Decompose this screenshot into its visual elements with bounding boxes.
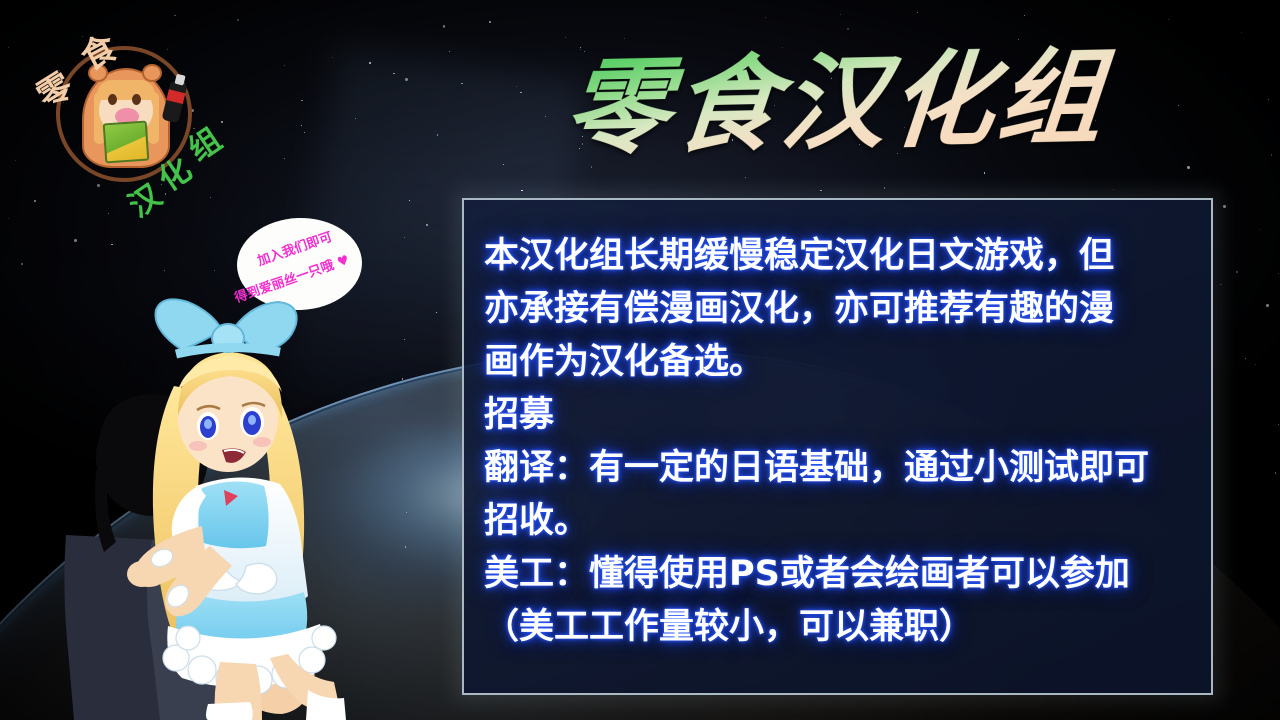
group-logo: 零 食 汉 化 组 bbox=[18, 18, 228, 230]
info-panel: 本汉化组长期缓慢稳定汉化日文游戏，但 亦承接有偿漫画汉化，亦可推荐有趣的漫 画作… bbox=[462, 198, 1213, 695]
panel-text-block: 本汉化组长期缓慢稳定汉化日文游戏，但 亦承接有偿漫画汉化，亦可推荐有趣的漫 画作… bbox=[484, 230, 1189, 654]
logo-word-hanhuazu: 汉 化 组 bbox=[130, 116, 240, 226]
panel-line: 亦承接有偿漫画汉化，亦可推荐有趣的漫 bbox=[484, 283, 1189, 336]
logo-word-snack: 零 食 bbox=[28, 28, 138, 118]
title-text: 零食汉化组 bbox=[560, 30, 1172, 175]
panel-line-artist-note: （美工工作量较小，可以兼职） bbox=[484, 601, 1189, 654]
logo-char-zu: 组 bbox=[184, 124, 227, 167]
poster-title: 零食汉化组 bbox=[566, 36, 1166, 176]
panel-line-translator: 翻译：有一定的日语基础，通过小测试即可 bbox=[484, 442, 1189, 495]
panel-line: 画作为汉化备选。 bbox=[484, 336, 1189, 389]
hamster-ear-right-icon bbox=[142, 64, 162, 82]
logo-char-hua: 化 bbox=[154, 154, 197, 197]
panel-line-recruit-heading: 招募 bbox=[484, 389, 1189, 442]
poster-canvas: 零食汉化组 零 食 汉 化 组 bbox=[0, 0, 1280, 720]
panel-line-artist: 美工：懂得使用PS或者会绘画者可以参加 bbox=[484, 548, 1189, 601]
logo-char-shi: 食 bbox=[76, 30, 122, 76]
anime-artwork bbox=[56, 290, 396, 720]
panel-line: 本汉化组长期缓慢稳定汉化日文游戏，但 bbox=[484, 230, 1189, 283]
logo-char-han: 汉 bbox=[124, 180, 167, 223]
logo-char-ling: 零 bbox=[32, 68, 79, 115]
panel-line: 招收。 bbox=[484, 495, 1189, 548]
cola-label bbox=[166, 89, 185, 104]
